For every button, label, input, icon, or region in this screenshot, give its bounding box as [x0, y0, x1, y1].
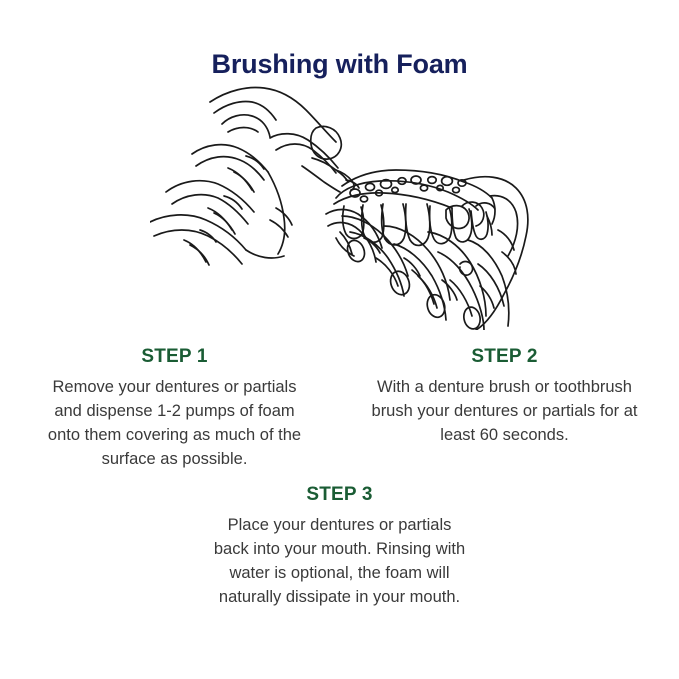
step-1-heading: STEP 1: [20, 345, 330, 369]
step-2-column: STEP 2 With a denture brush or toothbrus…: [340, 345, 670, 448]
steps-row-2: STEP 3 Place your dentures or partials b…: [0, 483, 679, 609]
illustration-hands-applying-foam: [150, 80, 530, 330]
page-title: Brushing with Foam: [0, 48, 679, 80]
step-2-heading: STEP 2: [350, 345, 660, 369]
foam-bubbles: [350, 176, 466, 202]
step-3-column: STEP 3 Place your dentures or partials b…: [170, 483, 510, 609]
infographic-page: Brushing with Foam: [0, 0, 679, 679]
step-2-body: With a denture brush or toothbrush brush…: [350, 376, 660, 448]
upper-left-hand-group: [150, 88, 359, 265]
step-1-column: STEP 1 Remove your dentures or partials …: [10, 345, 340, 471]
step-3-body: Place your dentures or partials back int…: [180, 514, 500, 610]
steps-row-1: STEP 1 Remove your dentures or partials …: [0, 345, 679, 471]
step-1-body: Remove your dentures or partials and dis…: [20, 376, 330, 472]
illustration-svg: [150, 80, 530, 330]
step-3-heading: STEP 3: [180, 483, 500, 507]
